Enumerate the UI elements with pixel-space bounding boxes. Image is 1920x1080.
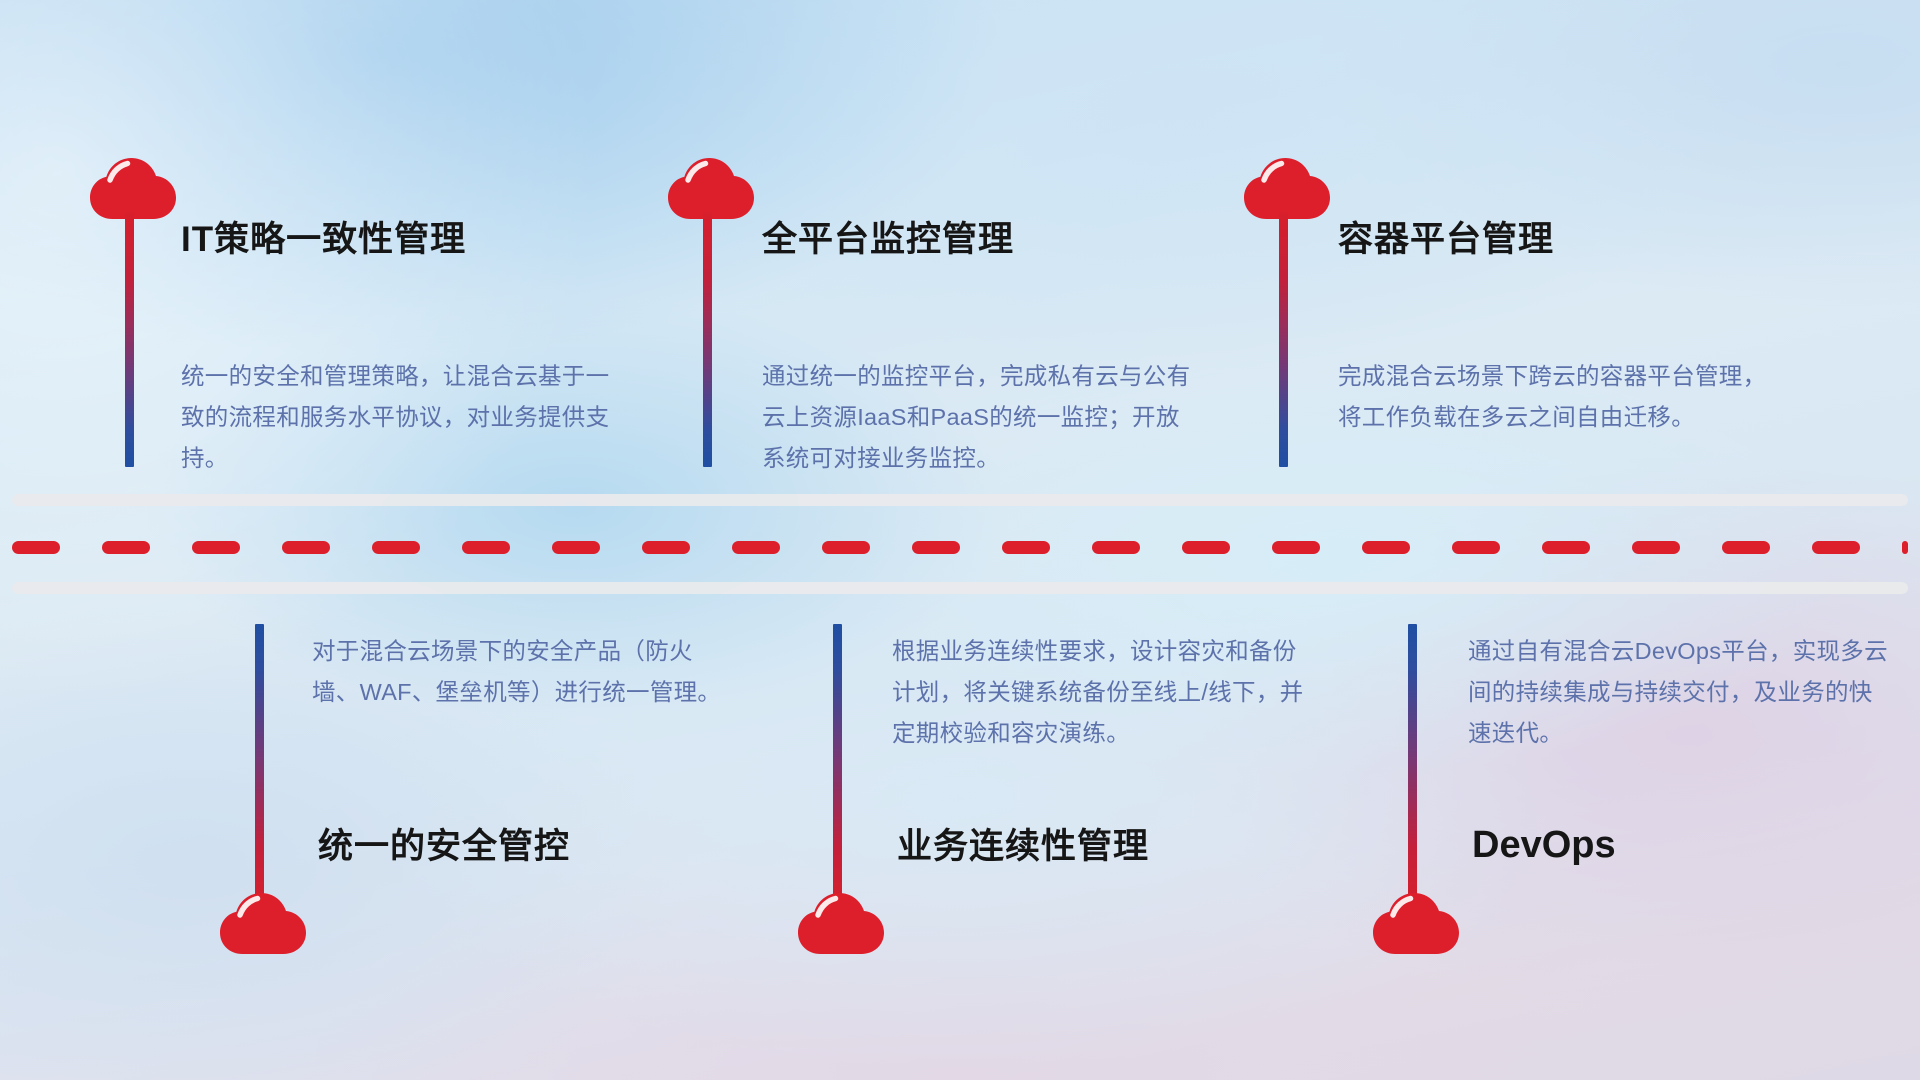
road-dash-segment xyxy=(282,541,330,554)
road-dash-segment xyxy=(102,541,150,554)
bottom-column-3-title: DevOps xyxy=(1472,826,1616,864)
road-dash-segment xyxy=(1362,541,1410,554)
road-dash-segment xyxy=(1542,541,1590,554)
bottom-column-1-body: 对于混合云场景下的安全产品（防火墙、WAF、堡垒机等）进行统一管理。 xyxy=(312,631,732,713)
road-dash-segment xyxy=(1722,541,1770,554)
road-lane-line-lower xyxy=(12,582,1908,594)
road-dash-segment xyxy=(912,541,960,554)
road-dash-segment xyxy=(1092,541,1140,554)
timeline-stem xyxy=(125,212,134,467)
road-dash-segment xyxy=(1002,541,1050,554)
cloud-pin-icon xyxy=(90,158,176,220)
road-dash-segment xyxy=(1182,541,1230,554)
road-dash-segment xyxy=(1632,541,1680,554)
timeline-stem xyxy=(1279,212,1288,467)
road-dash-segment xyxy=(1902,541,1908,554)
cloud-pin-icon xyxy=(668,158,754,220)
top-column-3-body: 完成混合云场景下跨云的容器平台管理，将工作负载在多云之间自由迁移。 xyxy=(1338,356,1776,438)
road-lane-line-upper xyxy=(12,494,1908,506)
timeline-stem xyxy=(703,212,712,467)
road-dash-segment xyxy=(1272,541,1320,554)
bottom-column-1-title: 统一的安全管控 xyxy=(318,829,570,864)
road-dash-segment xyxy=(12,541,60,554)
bottom-column-3-body: 通过自有混合云DevOps平台，实现多云间的持续集成与持续交付，及业务的快速迭代… xyxy=(1468,631,1888,754)
road-dash-segment xyxy=(822,541,870,554)
top-column-2-title: 全平台监控管理 xyxy=(762,222,1014,257)
road-dash-segment xyxy=(732,541,780,554)
road-dash-segment xyxy=(192,541,240,554)
timeline-stem xyxy=(255,624,264,910)
bottom-column-2-title: 业务连续性管理 xyxy=(897,829,1149,864)
road-dash-segment xyxy=(1452,541,1500,554)
bottom-column-2-body: 根据业务连续性要求，设计容灾和备份计划，将关键系统备份至线上/线下，并定期校验和… xyxy=(892,631,1312,754)
timeline-stem xyxy=(833,624,842,910)
top-column-2-body: 通过统一的监控平台，完成私有云与公有云上资源IaaS和PaaS的统一监控；开放系… xyxy=(762,356,1194,479)
cloud-pin-icon xyxy=(1244,158,1330,220)
top-column-3-title: 容器平台管理 xyxy=(1338,222,1554,257)
cloud-pin-icon xyxy=(1373,893,1459,955)
cloud-pin-icon xyxy=(220,893,306,955)
top-column-1-body: 统一的安全和管理策略，让混合云基于一致的流程和服务水平协议，对业务提供支持。 xyxy=(181,356,613,479)
timeline-stem xyxy=(1408,624,1417,910)
top-column-1-title: IT策略一致性管理 xyxy=(181,222,466,257)
infographic-canvas: IT策略一致性管理 统一的安全和管理策略，让混合云基于一致的流程和服务水平协议，… xyxy=(0,0,1920,1080)
road-dash-segment xyxy=(372,541,420,554)
road-dash-segment xyxy=(1812,541,1860,554)
road-dash-segment xyxy=(642,541,690,554)
cloud-pin-icon xyxy=(798,893,884,955)
road-dash-segment xyxy=(462,541,510,554)
road-dash-segment xyxy=(552,541,600,554)
road-center-dashed-line xyxy=(0,541,1920,554)
